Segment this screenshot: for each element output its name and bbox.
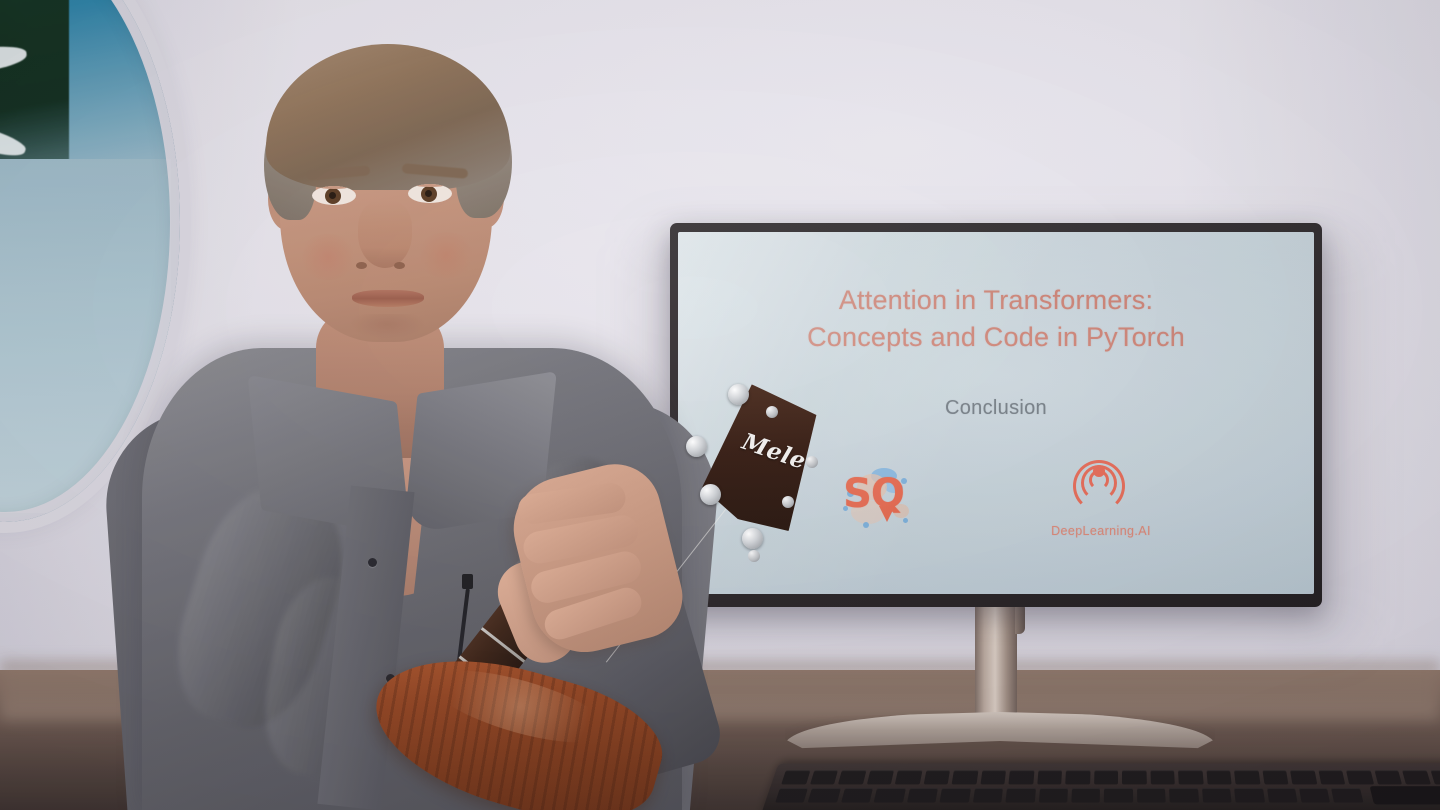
- cheek-left: [298, 234, 358, 280]
- nostril-right: [394, 262, 405, 269]
- deeplearning-ai-caption: DeepLearning.AI: [1051, 524, 1151, 538]
- deeplearning-ai-logo: DeepLearning.AI: [1051, 460, 1151, 538]
- iris-left: [325, 188, 341, 204]
- eyelid-left: [312, 186, 356, 189]
- nostril-left: [356, 262, 367, 269]
- tuning-peg: [686, 436, 707, 457]
- eye-left: [312, 186, 356, 205]
- cheek-right: [416, 232, 476, 278]
- keyboard-row-second: [775, 788, 1363, 803]
- keyboard-trackpad: [1370, 786, 1440, 804]
- deeplearning-ai-mark: [1073, 460, 1129, 516]
- tuning-peg: [742, 528, 763, 549]
- statquest-pin: [879, 506, 895, 522]
- slide-title-line-1: Attention in Transformers:: [807, 282, 1185, 319]
- tuning-peg: [728, 384, 749, 405]
- mouth: [352, 290, 424, 307]
- tuning-peg-knob: [806, 456, 818, 468]
- slide-title-line-2: Concepts and Code in PyTorch: [807, 319, 1185, 356]
- tuning-peg: [700, 484, 721, 505]
- eye-right: [408, 184, 452, 203]
- tuning-peg-knob: [782, 496, 794, 508]
- video-frame: Attention in Transformers: Concepts and …: [0, 0, 1440, 810]
- slide-title: Attention in Transformers: Concepts and …: [807, 282, 1185, 357]
- nose: [358, 200, 412, 268]
- tuning-peg-knob: [766, 406, 778, 418]
- slide-subtitle: Conclusion: [945, 397, 1047, 420]
- tuning-peg-knob: [748, 550, 760, 562]
- iris-right: [421, 186, 437, 202]
- statquest-logo: SQ: [841, 460, 915, 532]
- keyboard: [761, 763, 1440, 810]
- chin-shadow: [334, 314, 440, 348]
- statquest-mark-text: SQ: [843, 466, 913, 526]
- monitor-stand-neck: [975, 604, 1017, 722]
- eyelid-right: [408, 184, 452, 187]
- dl-center-dot: [1093, 465, 1105, 477]
- statquest-mark: SQ: [841, 460, 915, 532]
- keyboard-row-top: [781, 770, 1440, 784]
